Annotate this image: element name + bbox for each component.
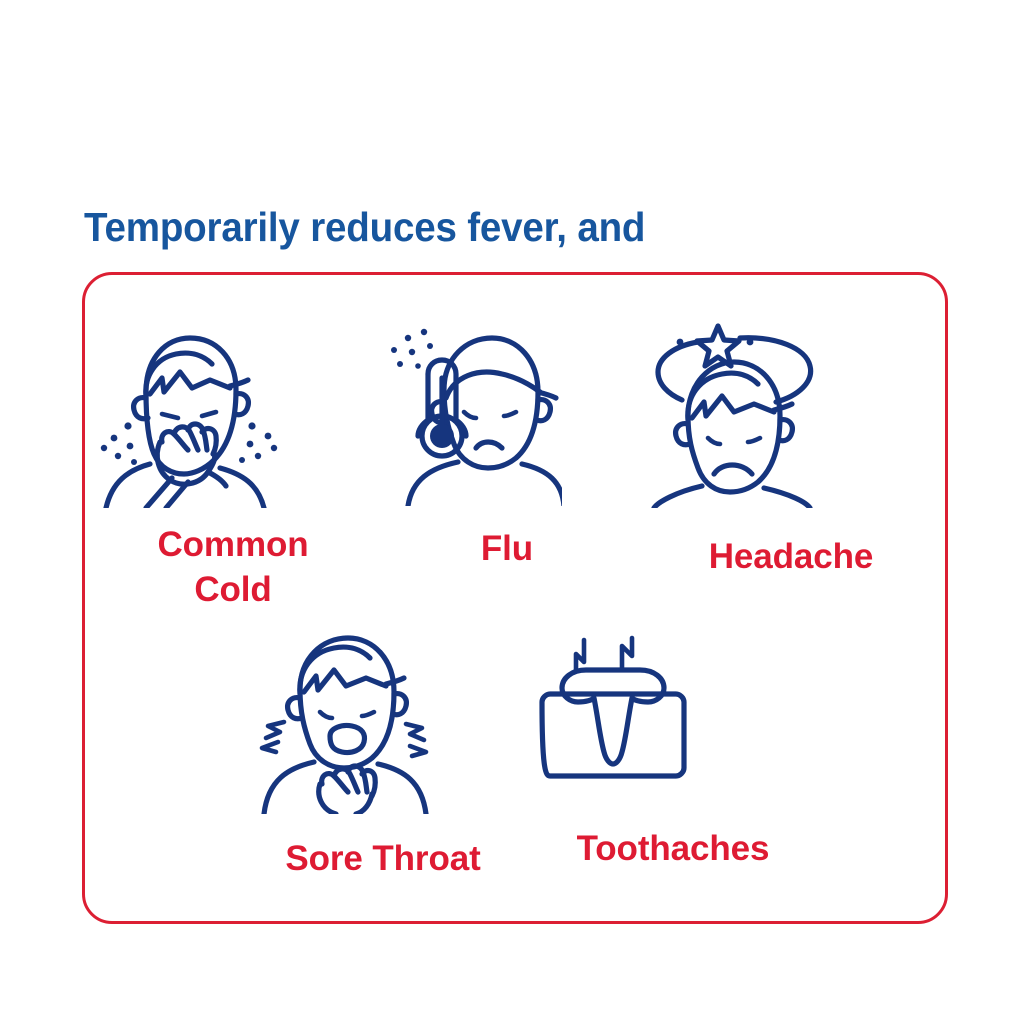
page-title-line-1: Temporarily reduces fever, and	[84, 202, 911, 253]
symptom-tile-common-cold: Common Cold	[88, 322, 378, 612]
symptom-label-sore-throat: Sore Throat	[238, 836, 528, 881]
symptom-tile-sore-throat: Sore Throat	[238, 628, 528, 881]
dizzy-head-star-icon	[636, 308, 946, 508]
aching-tooth-icon	[528, 628, 818, 788]
symptom-tile-toothaches: Toothaches	[528, 628, 818, 871]
fever-thermometer-face-icon	[382, 316, 632, 506]
symptom-label-common-cold: Common Cold	[88, 522, 378, 612]
symptom-label-toothaches: Toothaches	[528, 826, 818, 871]
symptom-tile-headache: Headache	[636, 308, 946, 579]
symptom-tile-flu: Flu	[382, 316, 632, 571]
symptom-label-headache: Headache	[636, 534, 946, 579]
sneezing-face-icon	[88, 322, 378, 508]
symptom-relief-panel: Temporarily reduces fever, and relieves …	[0, 0, 1024, 1024]
sore-throat-face-icon	[238, 628, 528, 814]
symptom-label-flu: Flu	[382, 526, 632, 571]
